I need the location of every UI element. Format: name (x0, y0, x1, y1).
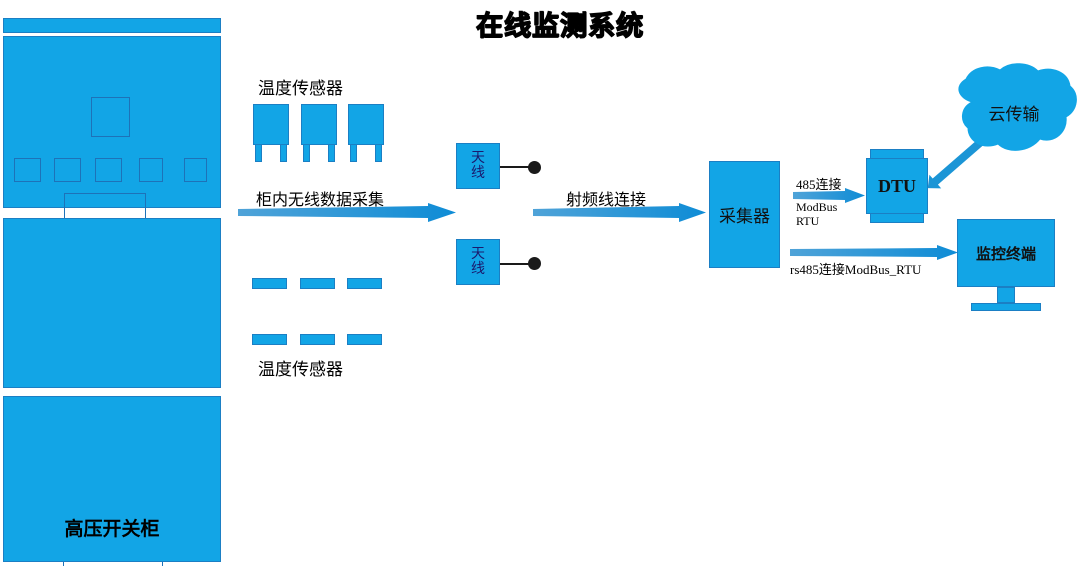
temperature-sensor-chip-3 (347, 278, 382, 289)
antenna-lead-2 (500, 263, 530, 265)
antenna-lead-1 (500, 166, 530, 168)
dtu-device: DTU (866, 155, 928, 217)
antenna-terminal-dot-1 (528, 161, 541, 174)
monitor-base (971, 303, 1041, 311)
monitor-terminal: 监控终端 (957, 219, 1055, 319)
cabinet-indicator-3 (95, 158, 122, 182)
antenna-label-1: 天线 (471, 151, 485, 181)
label-modbus: ModBus (796, 200, 837, 215)
sensor-body (348, 104, 384, 145)
sensor-leg-left (303, 145, 310, 162)
page-title: 在线监测系统 (420, 4, 700, 43)
temperature-sensor-chip-5 (300, 334, 335, 345)
temperature-sensor-label-top: 温度传感器 (258, 74, 343, 99)
sensor-leg-right (375, 145, 382, 162)
cabinet-meter-box (91, 97, 130, 137)
sensor-body (301, 104, 337, 145)
cloud-label: 云传输 (948, 100, 1080, 125)
label-rtu: RTU (796, 214, 819, 229)
temperature-sensor-2 (301, 104, 337, 162)
temperature-sensor-label-bottom: 温度传感器 (258, 355, 343, 380)
diagram-canvas: 在线监测系统 高压开关柜 温度传感器 柜内无线数据采集 (0, 0, 1080, 566)
antenna-label-2: 天线 (471, 247, 485, 277)
cabinet-panel-middle (3, 218, 221, 388)
temperature-sensor-chip-2 (300, 278, 335, 289)
sensor-leg-left (350, 145, 357, 162)
monitor-screen-label: 监控终端 (957, 219, 1055, 287)
cabinet-panel-upper (3, 36, 221, 208)
arrow-wireless (238, 203, 456, 225)
sensor-leg-right (280, 145, 287, 162)
antenna-box-2: 天线 (456, 239, 500, 285)
antenna-box-1: 天线 (456, 143, 500, 189)
arrow-rf-cable (533, 203, 706, 225)
cabinet-top-bar (3, 18, 221, 33)
temperature-sensor-3 (348, 104, 384, 162)
cabinet-label: 高压开关柜 (3, 514, 221, 541)
cabinet-indicator-4 (139, 158, 163, 182)
temperature-sensor-1 (253, 104, 289, 162)
sensor-leg-right (328, 145, 335, 162)
collector-box: 采集器 (709, 161, 780, 268)
monitor-neck (997, 287, 1015, 303)
cabinet-indicator-2 (54, 158, 81, 182)
temperature-sensor-chip-4 (252, 334, 287, 345)
dtu-label: DTU (866, 158, 928, 214)
cabinet-indicator-5 (184, 158, 207, 182)
sensor-body (253, 104, 289, 145)
temperature-sensor-chip-1 (252, 278, 287, 289)
sensor-leg-left (255, 145, 262, 162)
temperature-sensor-chip-6 (347, 334, 382, 345)
label-rs485-modbus-rtu: rs485连接ModBus_RTU (790, 259, 921, 278)
cabinet-indicator-1 (14, 158, 41, 182)
cloud-node: 云传输 (948, 62, 1080, 157)
antenna-terminal-dot-2 (528, 257, 541, 270)
